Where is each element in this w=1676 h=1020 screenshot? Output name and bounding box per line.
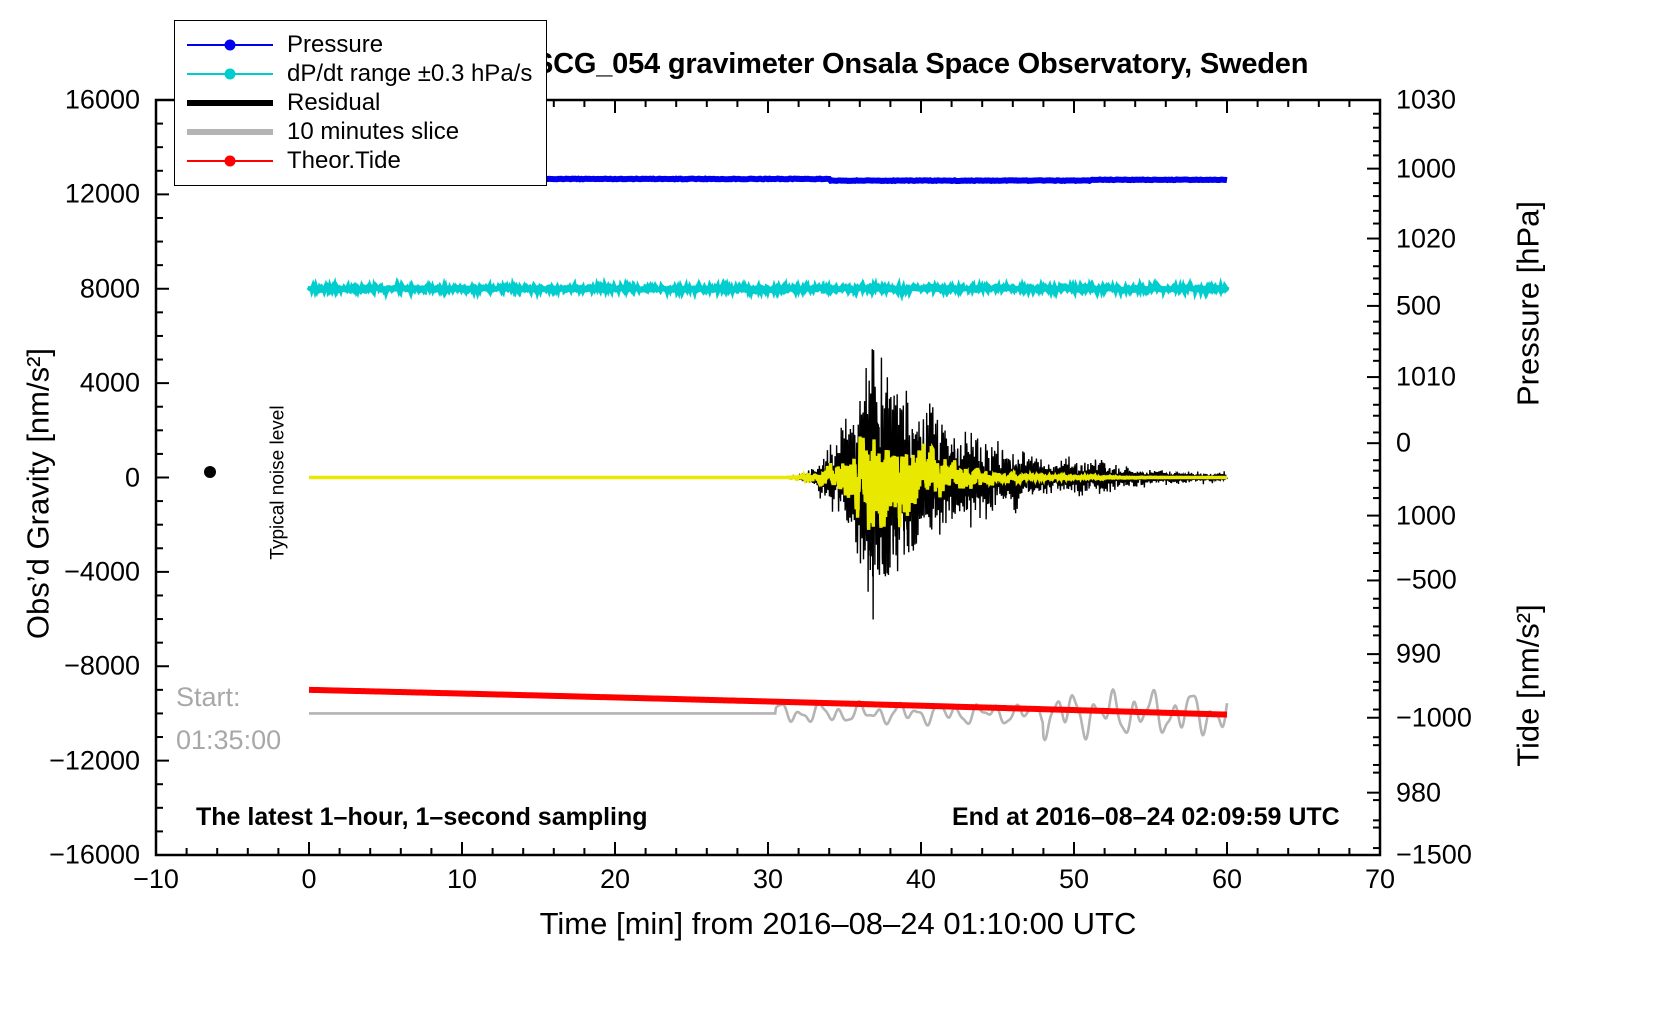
legend-dot-icon — [225, 68, 236, 79]
y-axis-tide-title: Tide [nm/s²] — [1513, 506, 1544, 866]
series-residual — [309, 349, 1227, 619]
ytick-left-labels-0: 16000 — [0, 87, 140, 114]
ytick-tide-labels-0: 1000 — [1396, 155, 1456, 182]
legend-item-2[interactable]: Residual — [187, 88, 532, 117]
legend-swatch-icon — [187, 93, 273, 113]
ytick-press-labels-5: 980 — [1396, 779, 1441, 806]
xtick-label-5: 40 — [906, 866, 936, 893]
ytick-left-labels-1: 12000 — [0, 181, 140, 208]
gravimeter-plot-page: 1600012000800040000−4000−8000−12000−1600… — [0, 0, 1676, 1020]
sampling-note: The latest 1–hour, 1–second sampling — [196, 805, 648, 830]
typical-noise-level-label: Typical noise level — [269, 373, 288, 593]
legend-dot-icon — [225, 39, 236, 50]
start-label-line2: 01:35:00 — [176, 727, 281, 754]
legend-label: dP/dt range ±0.3 hPa/s — [287, 60, 532, 88]
legend-item-1[interactable]: dP/dt range ±0.3 hPa/s — [187, 59, 532, 88]
xtick-label-7: 60 — [1212, 866, 1242, 893]
legend-line-icon — [187, 100, 273, 106]
legend-dot-icon — [225, 155, 236, 166]
legend-label: Residual — [287, 89, 380, 117]
legend-item-4[interactable]: Theor.Tide — [187, 146, 532, 175]
ytick-tide-labels-5: −1500 — [1396, 842, 1472, 869]
xtick-label-3: 20 — [600, 866, 630, 893]
legend-swatch-icon — [187, 151, 273, 171]
ytick-left-labels-8: −16000 — [0, 842, 140, 869]
ytick-left-labels-7: −12000 — [0, 747, 140, 774]
xtick-label-0: −10 — [133, 866, 179, 893]
series-10-minutes-slice — [309, 690, 1227, 740]
y-axis-left-title: Obs’d Gravity [nm/s²] — [23, 284, 54, 704]
ytick-press-labels-4: 990 — [1396, 641, 1441, 668]
x-axis-title: Time [min] from 2016–08–24 01:10:00 UTC — [0, 908, 1676, 939]
xtick-label-2: 10 — [447, 866, 477, 893]
legend-item-3[interactable]: 10 minutes slice — [187, 117, 532, 146]
ytick-tide-labels-4: −1000 — [1396, 704, 1472, 731]
xtick-label-6: 50 — [1059, 866, 1089, 893]
xtick-label-8: 70 — [1365, 866, 1395, 893]
legend-swatch-icon — [187, 64, 273, 84]
legend-swatch-icon — [187, 122, 273, 142]
legend-item-0[interactable]: Pressure — [187, 30, 532, 59]
xtick-label-4: 30 — [753, 866, 783, 893]
legend-label: 10 minutes slice — [287, 118, 459, 146]
xtick-label-1: 0 — [301, 866, 316, 893]
ytick-tide-labels-1: 500 — [1396, 292, 1441, 319]
ytick-left-labels-2: 8000 — [0, 275, 140, 302]
ytick-press-labels-2: 1010 — [1396, 364, 1456, 391]
typical-noise-level-dot — [204, 466, 216, 478]
ytick-press-labels-1: 1020 — [1396, 225, 1456, 252]
ytick-press-labels-0: 1030 — [1396, 87, 1456, 114]
ytick-left-labels-6: −8000 — [0, 653, 140, 680]
legend: PressuredP/dt range ±0.3 hPa/sResidual10… — [174, 20, 547, 186]
ytick-tide-labels-3: −500 — [1396, 567, 1457, 594]
ytick-tide-labels-2: 0 — [1396, 430, 1411, 457]
legend-swatch-icon — [187, 35, 273, 55]
legend-line-icon — [187, 129, 273, 135]
chart-title: SCG_054 gravimeter Onsala Space Observat… — [534, 50, 1308, 79]
ytick-press-labels-3: 1000 — [1396, 502, 1456, 529]
start-label-line1: Start: — [176, 684, 241, 711]
y-axis-pressure-title: Pressure [hPa] — [1513, 94, 1544, 514]
legend-label: Pressure — [287, 31, 383, 59]
legend-label: Theor.Tide — [287, 147, 401, 175]
series-dpdt-range — [309, 285, 1227, 292]
end-time-note: End at 2016–08–24 02:09:59 UTC — [952, 805, 1340, 830]
series-theor-tide — [309, 690, 1227, 715]
